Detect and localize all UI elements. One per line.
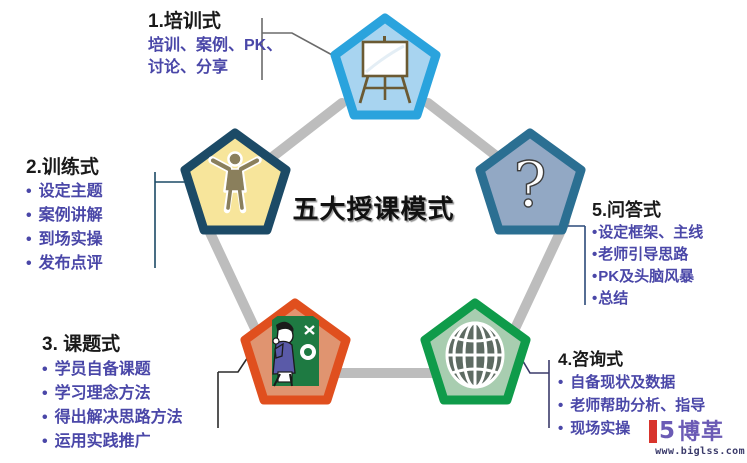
diagram-canvas: ? 五大授课模式 1.培训式 培训、案例、PK、 讨论、分享 2.训练式 设定主… [0,0,747,463]
list-item: 到场实操 [26,228,103,252]
callout-title-3: 3. 课题式 [42,332,183,358]
brand-mark-icon: 5 [648,419,674,444]
logo-bar-icon [649,420,657,443]
callout-bullets-3: 学员自备课题 学习理念方法 得出解决思路方法 运用实践推广 [42,358,183,454]
callout-line: 培训、案例、PK、 [148,35,282,57]
callout-title-1: 1.培训式 [148,10,282,34]
list-item: 设定框架、主线 [592,222,703,244]
connector-2-3 [205,222,258,335]
callout-line: 讨论、分享 [148,57,282,79]
callout-peixunshi: 1.培训式 培训、案例、PK、 讨论、分享 [148,10,282,79]
teacher-chalkboard-icon [272,316,319,386]
list-item: 案例讲解 [26,204,103,228]
list-item: 学员自备课题 [42,358,183,382]
list-item: 自备现状及数据 [558,371,705,394]
callout-ketishi: 3. 课题式 学员自备课题 学习理念方法 得出解决思路方法 运用实践推广 [42,332,183,454]
callout-lines-1: 培训、案例、PK、 讨论、分享 [148,35,282,79]
globe-icon [447,323,503,387]
logo-row: 5 博革 [648,417,745,445]
connector-5-4 [512,222,565,335]
callout-title-4: 4.咨询式 [558,348,705,371]
brand-name: 博革 [678,419,724,444]
callout-xunlianshi: 2.训练式 设定主题 案例讲解 到场实操 发布点评 [26,155,103,276]
list-item: 总结 [592,288,703,310]
callout-title-5: 5.问答式 [592,198,703,222]
list-item: 学习理念方法 [42,382,183,406]
list-item: 老师帮助分析、指导 [558,394,705,417]
brand-logo[interactable]: 5 博革 www.biglss.com [648,417,745,461]
list-item: PK及头脑风暴 [592,266,703,288]
list-item: 运用实践推广 [42,430,183,454]
pentagon-node-ketishi[interactable] [245,303,346,400]
callout-title-2: 2.训练式 [26,155,103,180]
logo-glyph: 5 [659,420,673,443]
brand-url: www.biglss.com [648,446,745,457]
connector-1-2 [262,103,342,165]
pentagon-node-peixunshi[interactable] [335,18,436,115]
list-item: 设定主题 [26,180,103,204]
list-item: 发布点评 [26,252,103,276]
callout-bullets-2: 设定主题 案例讲解 到场实操 发布点评 [26,180,103,276]
pentagon-node-zixunshi[interactable] [425,303,526,400]
list-item: 得出解决思路方法 [42,406,183,430]
callout-wendashi: 5.问答式 设定框架、主线 老师引导思路 PK及头脑风暴 总结 [592,198,703,310]
callout-bullets-5: 设定框架、主线 老师引导思路 PK及头脑风暴 总结 [592,222,703,310]
list-item: 老师引导思路 [592,244,703,266]
